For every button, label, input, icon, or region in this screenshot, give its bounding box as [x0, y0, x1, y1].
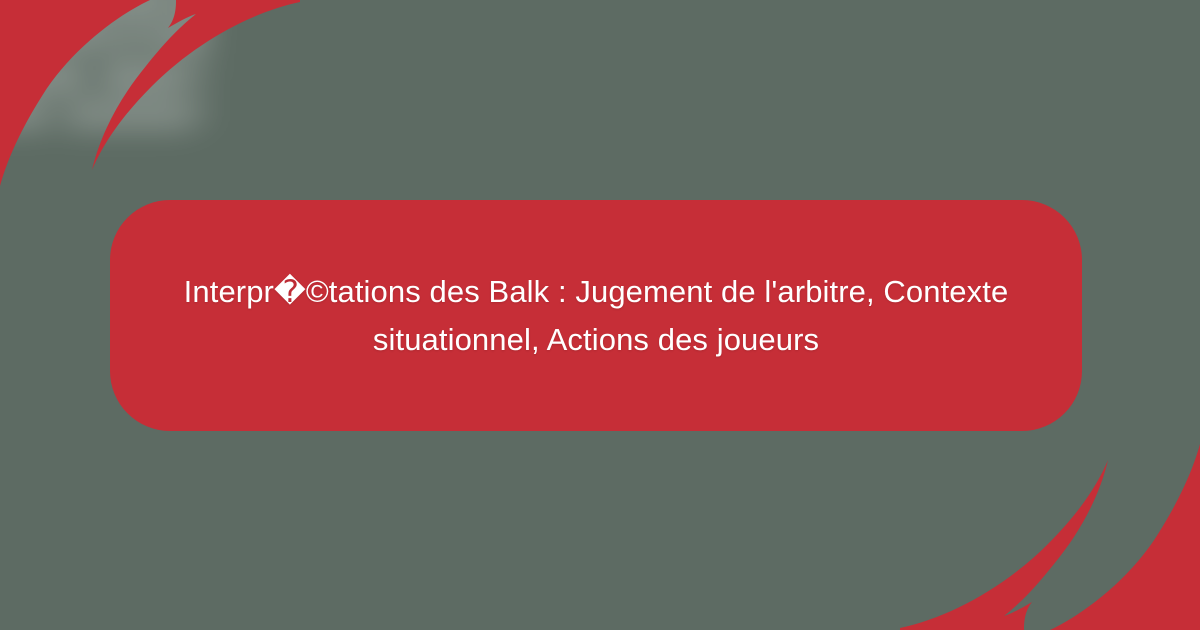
- page-title: Interpr�©tations des Balk : Jugement de …: [170, 268, 1022, 362]
- title-card: Interpr�©tations des Balk : Jugement de …: [110, 200, 1082, 431]
- social-share-card: Interpr�©tations des Balk : Jugement de …: [0, 0, 1200, 630]
